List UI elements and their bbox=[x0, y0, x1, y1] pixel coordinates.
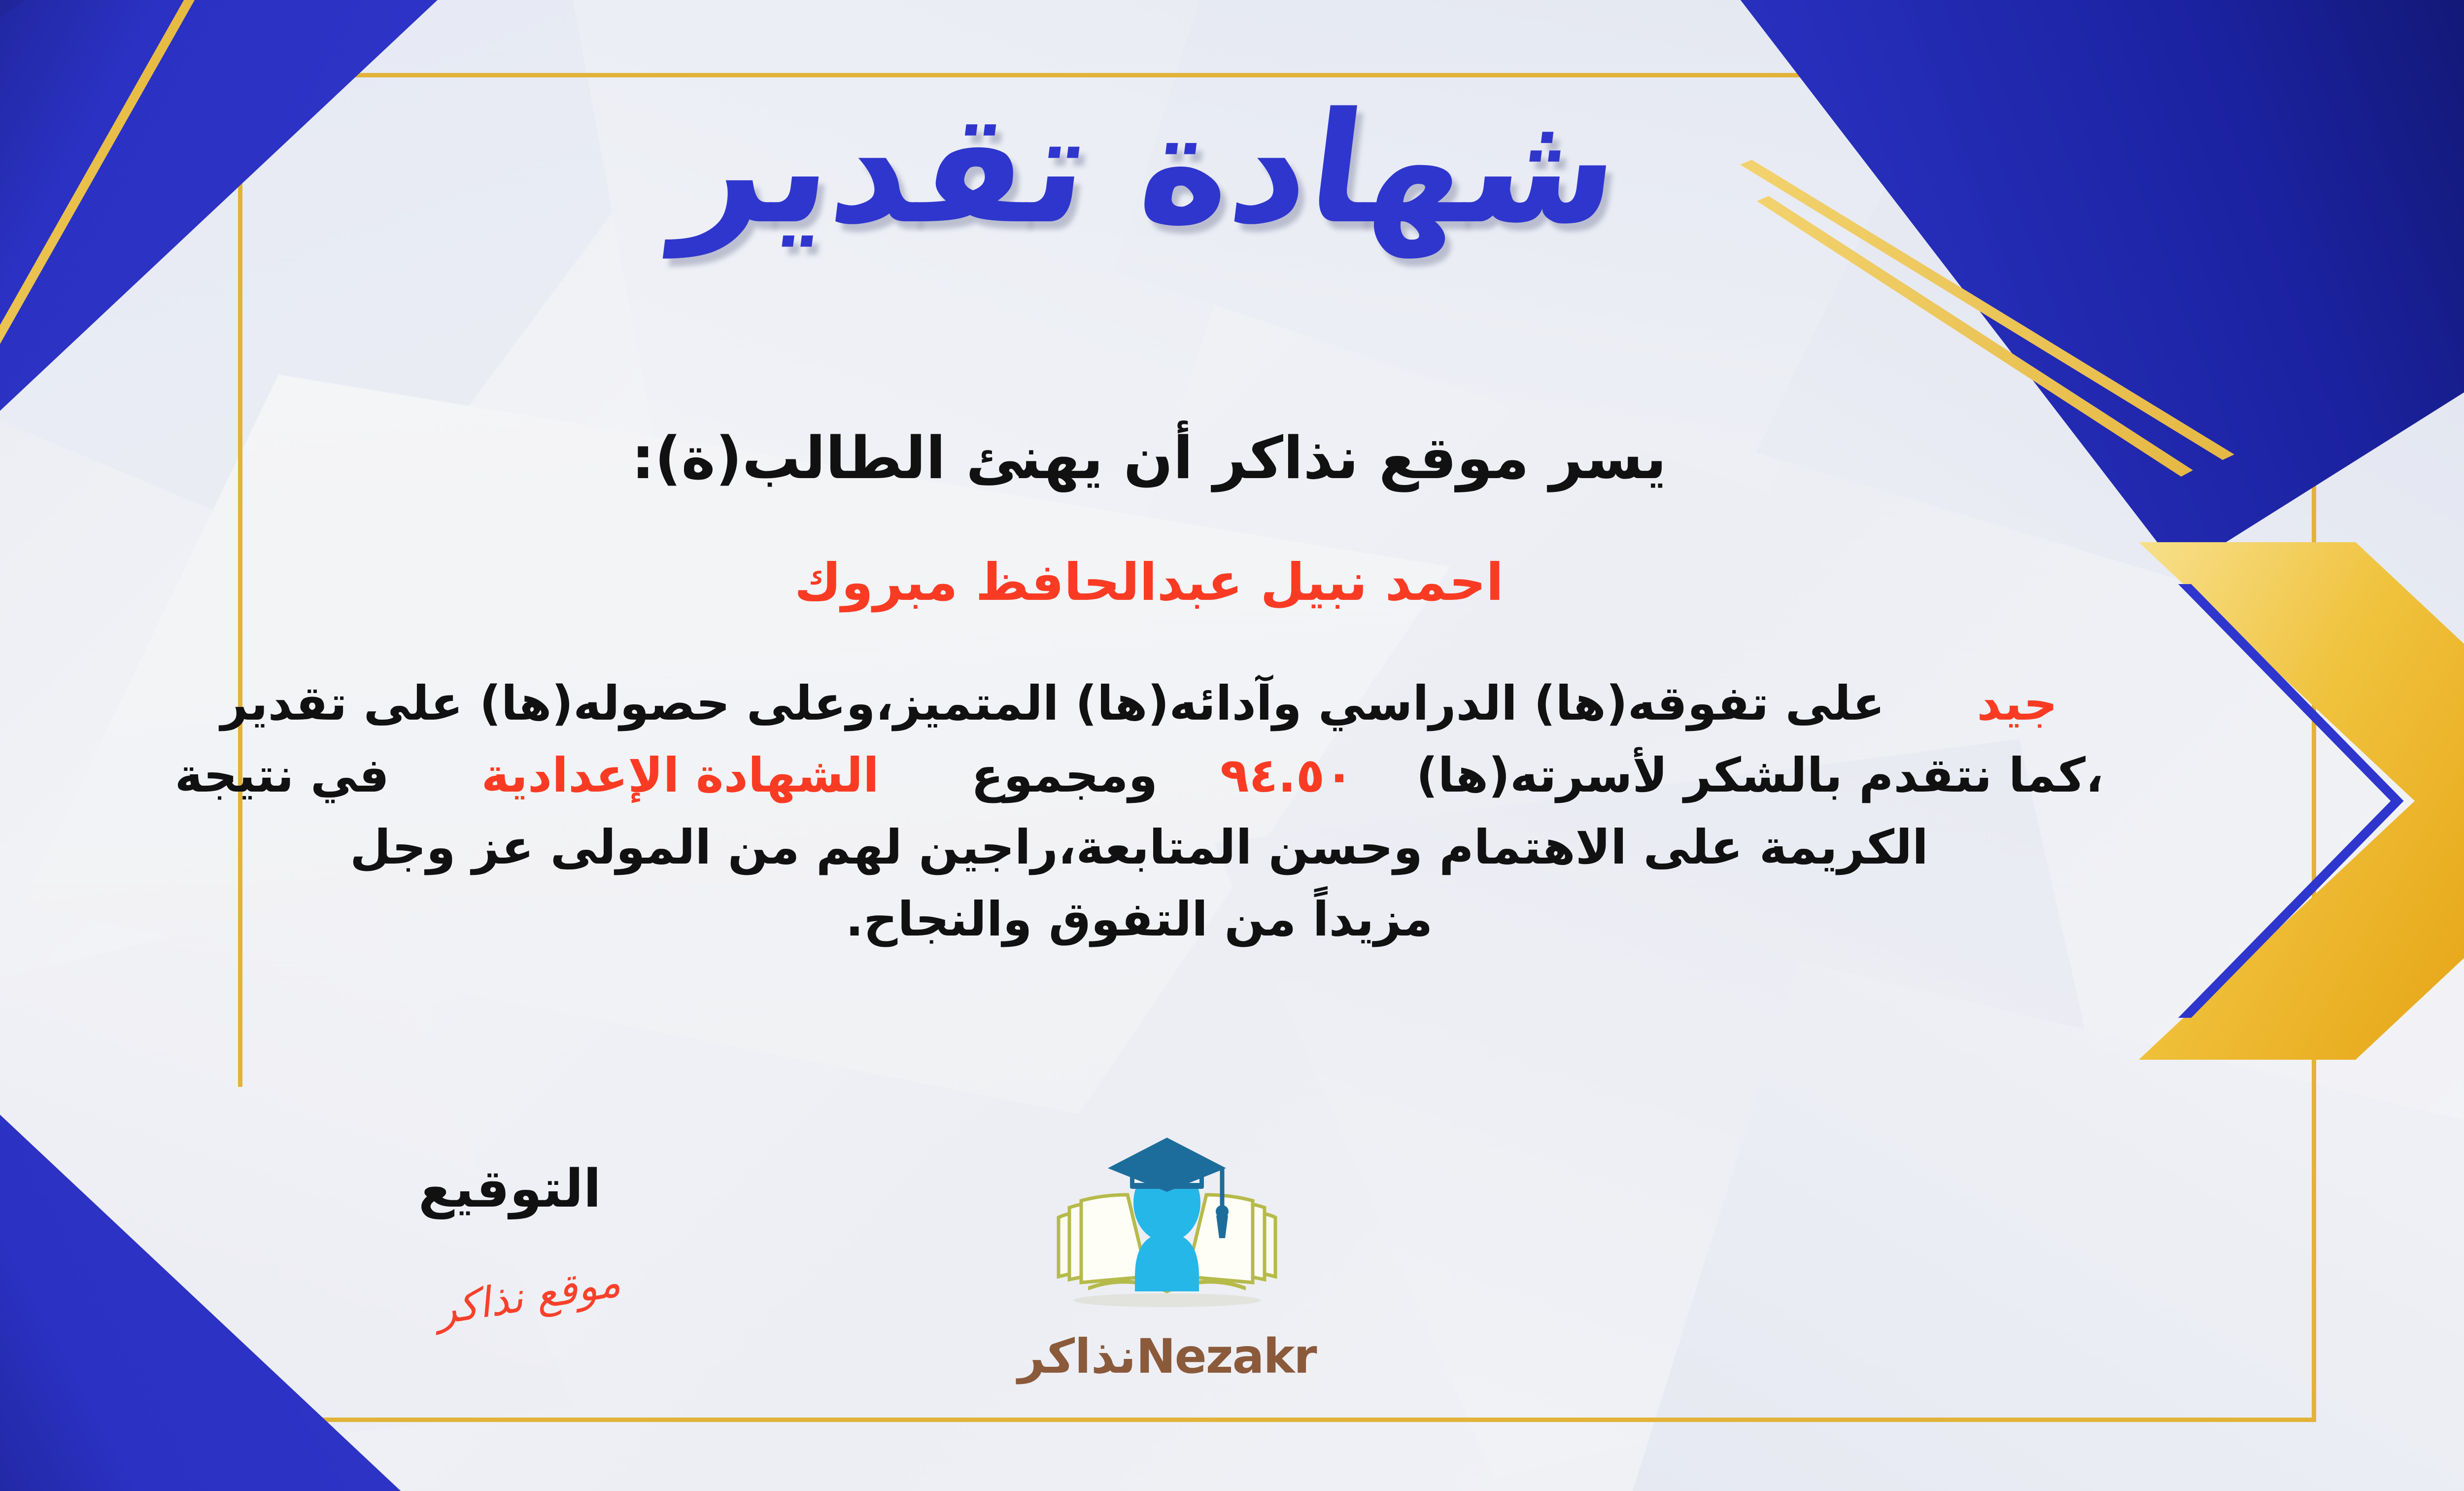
title-block: شهادة تقدير bbox=[0, 89, 2464, 249]
certificate-content: شهادة تقدير يسر موقع نذاكر أن يهنئ الطال… bbox=[0, 0, 2464, 1491]
body-line-1-text: على تفوقه(ها) الدراسي وآدائه(ها) المتميز… bbox=[221, 676, 1885, 731]
certificate-page: شهادة تقدير يسر موقع نذاكر أن يهنئ الطال… bbox=[0, 0, 2464, 1491]
signature-label: التوقيع bbox=[418, 1158, 601, 1219]
body-line-4: مزيداً من التفوق والنجاح. bbox=[0, 884, 2316, 956]
logo-text: Nezakrنذاكر bbox=[945, 1329, 1389, 1384]
body-line-1: جيد على تفوقه(ها) الدراسي وآدائه(ها) الم… bbox=[0, 668, 2316, 740]
total-score-value: ٩٤.٥٠ bbox=[1220, 748, 1354, 803]
logo-mark bbox=[1029, 1129, 1305, 1326]
grade-value: جيد bbox=[1977, 676, 2057, 731]
page-title: شهادة تقدير bbox=[670, 89, 1628, 249]
graduate-book-icon bbox=[1029, 1129, 1305, 1326]
exam-name-value: الشهادة الإعدادية bbox=[481, 748, 879, 803]
intro-text: يسر موقع نذاكر أن يهنئ الطالب(ة): bbox=[0, 424, 2464, 492]
body-line-2: ،كما نتقدم بالشكر لأسرته(ها) ٩٤.٥٠ ومجمو… bbox=[0, 740, 2316, 812]
site-logo: Nezakrنذاكر bbox=[945, 1129, 1389, 1424]
body-line-2-tail: ،كما نتقدم بالشكر لأسرته(ها) bbox=[1416, 748, 2104, 803]
handwritten-signature: موقع نذاكر bbox=[433, 1257, 624, 1334]
body-line-2-head: في نتيجة bbox=[175, 748, 389, 803]
body-line-3: الكريمة على الاهتمام وحسن المتابعة،راجين… bbox=[0, 812, 2316, 884]
body-paragraph: جيد على تفوقه(ها) الدراسي وآدائه(ها) الم… bbox=[0, 668, 2316, 956]
student-name: احمد نبيل عبدالحافظ مبروك bbox=[0, 552, 2464, 612]
body-line-2-mid: ومجموع bbox=[971, 748, 1158, 803]
